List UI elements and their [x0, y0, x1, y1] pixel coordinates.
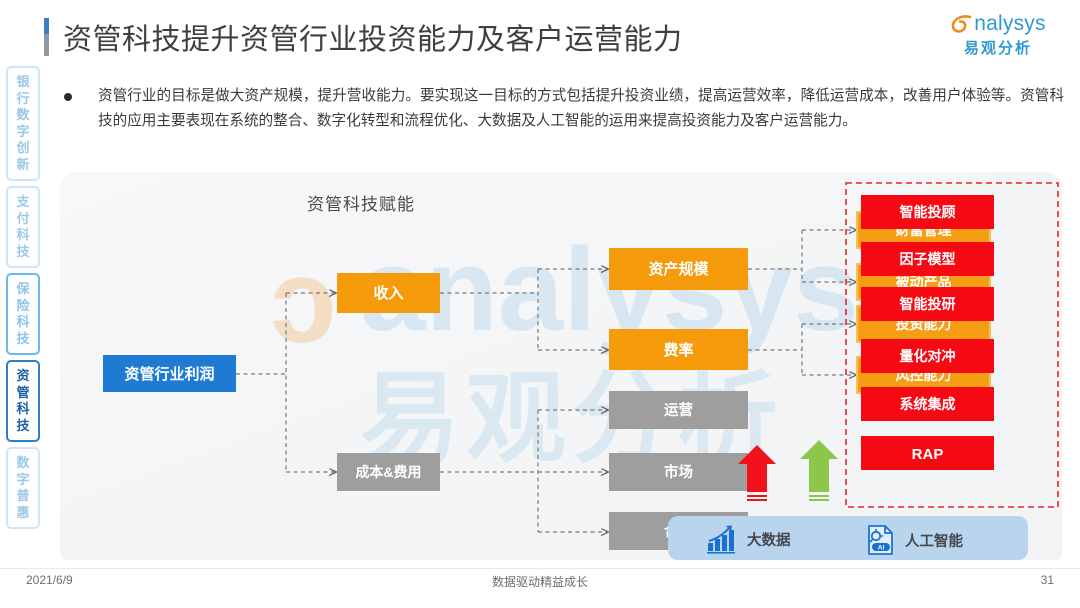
node-label: RAP — [912, 446, 944, 463]
logo-swoosh-icon — [950, 12, 974, 36]
svg-text:AI: AI — [878, 544, 885, 551]
summary-bullet-text: 资管行业的目标是做大资产规模，提升营收能力。要实现这一目标的方式包括提升投资业绩… — [98, 84, 1064, 134]
analysys-logo: nalysys 易观分析 — [938, 12, 1058, 64]
page-title: 资管科技提升资管行业投资能力及客户运营能力 — [44, 16, 683, 58]
node-label: 智能投研 — [899, 296, 956, 312]
node-revenue[interactable]: 收入 — [337, 273, 440, 313]
capability-label: 人工智能 — [905, 530, 963, 551]
node-label: 费率 — [663, 341, 693, 359]
node-fee-rate[interactable]: 费率 — [609, 329, 748, 370]
tab-label: 银行数字创新 — [8, 74, 38, 173]
title-accent-bar — [44, 18, 49, 56]
green-up-arrow — [800, 440, 838, 501]
node-quant-hedge[interactable]: 量化对冲 — [861, 339, 994, 373]
tab-label: 保险科技 — [8, 281, 38, 347]
node-robo-advisor[interactable]: 智能投顾 — [861, 195, 994, 229]
ai-document-icon: AI — [866, 524, 896, 556]
node-label: 系统集成 — [900, 396, 956, 412]
node-asset-mgmt-profit[interactable]: 资管行业利润 — [103, 355, 236, 392]
bullet-dot-icon — [64, 93, 72, 101]
tab-label: 资管科技 — [8, 368, 38, 434]
flow-diagram: 资管行业利润 收入 成本&费用 资产规模 费率 运营 — [60, 172, 1062, 560]
node-label: 量化对冲 — [900, 348, 956, 364]
footer-slogan: 数据驱动精益成长 — [0, 573, 1080, 590]
capability-ai[interactable]: AI 人工智能 — [866, 524, 963, 556]
node-label: 市场 — [664, 463, 693, 481]
node-rap[interactable]: RAP — [861, 436, 994, 470]
node-label: 资产规模 — [648, 260, 709, 278]
bar-chart-icon — [706, 524, 738, 554]
logo-chinese-name: 易观分析 — [938, 37, 1058, 58]
node-asset-scale[interactable]: 资产规模 — [609, 248, 748, 290]
sidebar-tab-asset-mgmt[interactable]: 资管科技 — [6, 360, 40, 442]
tab-label: 数字普惠 — [8, 455, 38, 521]
footer-divider — [0, 568, 1080, 569]
diagram-panel: ɔ analysys 易观分析 资管科技赋能 — [60, 172, 1062, 560]
enabling-tech-bar: 大数据 AI 人工智能 — [668, 516, 1028, 560]
category-tabs[interactable]: 银行数字创新 支付科技 保险科技 资管科技 数字普惠 — [6, 66, 42, 534]
node-operations[interactable]: 运营 — [609, 391, 748, 429]
node-label: 成本&费用 — [355, 464, 421, 480]
capability-big-data[interactable]: 大数据 — [706, 524, 791, 554]
node-factor-model[interactable]: 因子模型 — [861, 242, 994, 276]
node-system-integration[interactable]: 系统集成 — [861, 387, 994, 421]
sidebar-tab-inclusive[interactable]: 数字普惠 — [6, 447, 40, 529]
node-label: 运营 — [664, 402, 693, 419]
node-smart-research[interactable]: 智能投研 — [861, 287, 994, 321]
capability-label: 大数据 — [747, 529, 791, 550]
sidebar-tab-insurance[interactable]: 保险科技 — [6, 273, 40, 355]
logo-wordmark: nalysys — [974, 12, 1045, 36]
sidebar-tab-bank[interactable]: 银行数字创新 — [6, 66, 40, 181]
node-label: 因子模型 — [900, 251, 956, 267]
page-title-text: 资管科技提升资管行业投资能力及客户运营能力 — [63, 16, 683, 58]
slide-canvas: 资管科技提升资管行业投资能力及客户运营能力 nalysys 易观分析 资管行业的… — [0, 0, 1080, 608]
node-market[interactable]: 市场 — [609, 453, 748, 491]
summary-bullet: 资管行业的目标是做大资产规模，提升营收能力。要实现这一目标的方式包括提升投资业绩… — [64, 84, 1064, 134]
node-label: 资管行业利润 — [124, 365, 214, 383]
node-label: 智能投顾 — [899, 204, 956, 220]
footer-page-number: 31 — [1041, 573, 1054, 587]
node-cost-expense[interactable]: 成本&费用 — [337, 453, 440, 491]
node-label: 收入 — [373, 284, 403, 302]
